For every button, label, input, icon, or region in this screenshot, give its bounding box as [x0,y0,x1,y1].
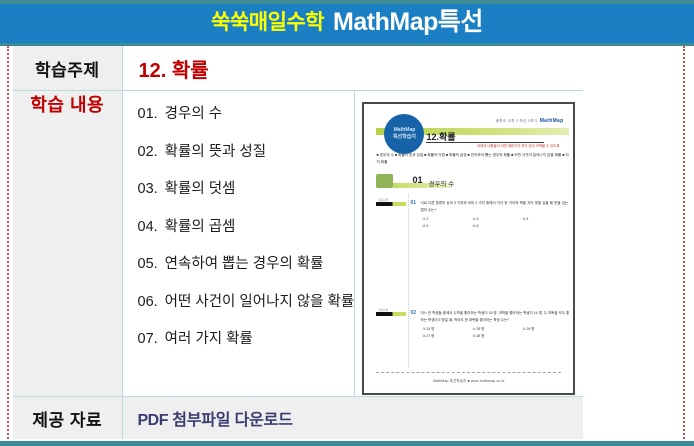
choice: ⑤ 6 [472,223,522,230]
section-icon [376,174,393,188]
corner-brand-text: MathMap [540,118,564,124]
content-label: 학습 내용 [30,95,104,115]
list-item-label: 어떤 사건이 일어나지 않을 확률 [165,294,355,310]
list-item-label: 확률의 곱셈 [165,219,236,235]
question-1-text: 서로 다른 종류의 상의 3 가지와 하의 2 가지 중에서 각각 한 가지씩 … [420,200,569,213]
choice: ④ 27 명 [422,333,472,340]
choice: ⑤ 28 명 [472,333,522,340]
question-1-marker-label: 대표문제 [378,198,388,202]
list-item: 07.여러 가지 확률 [138,332,355,347]
list-item-number: 04. [138,219,158,235]
list-item-number: 06. [138,294,158,310]
table-row-file: 제공 자료 PDF 첨부파일 다운로드 [13,397,583,440]
question-2-choices: ① 24 명 ② 25 명 ③ 26 명 ④ 27 명 ⑤ 28 명 [422,326,569,340]
content-list-cell: 01.경우의 수 02.확률의 뜻과 성질 03.확률의 덧셈 04.확률의 곱… [122,91,355,397]
question-2-marker: 유사문제 [376,312,406,316]
right-dotted-rule [683,46,687,446]
list-item-number: 05. [138,256,158,272]
list-item-label: 연속하여 뽑는 경우의 확률 [165,256,324,272]
worksheet-bullets: ■ 경우의 수 ■ 확률의 뜻과 성질 ■ 확률의 덧셈 ■ 확률의 곱셈 ■ … [376,152,569,166]
list-item: 01.경우의 수 [138,107,355,122]
file-label: 제공 자료 [32,411,102,430]
question-1-choices: ① 2 ② 3 ③ 4 ④ 5 ⑤ 6 [422,216,569,230]
page-title: 12. 확률 [123,54,583,83]
lesson-info-table: 학습주제 12. 확률 학습 내용 01.경우의 수 [13,46,583,439]
worksheet-corner-meta: 중학교 수학 2 학년 1학기 MathMap [496,118,564,124]
logo-line-2: 특선학습지 [393,134,416,142]
list-item: 03.확률의 덧셈 [138,182,355,197]
table-row-content: 학습 내용 01.경우의 수 02.확률의 뜻과 성질 03.확 [13,91,583,397]
topic-label-cell: 학습주제 [13,46,122,91]
choice: ③ 4 [522,216,569,223]
pdf-tag: PDF [138,412,169,429]
worksheet-preview-cell: MathMap 특선학습지 12.확률 중학교 수학 2 학년 1학기 Math… [355,91,583,397]
lesson-list: 01.경우의 수 02.확률의 뜻과 성질 03.확률의 덧셈 04.확률의 곱… [123,91,355,396]
worksheet-title-underline [426,142,544,143]
list-item: 02.확률의 뜻과 성질 [138,145,355,160]
list-item-number: 01. [138,106,158,122]
worksheet-margin-line [408,194,409,367]
download-link[interactable]: PDF 첨부파일 다운로드 [123,406,583,430]
worksheet-footer-text: MathMap 특선학습지 ■ www.mathmap.co.kr [368,378,569,383]
question-1-marker: 대표문제 [376,202,406,206]
worksheet-footer-rule [376,372,561,373]
list-item-label: 경우의 수 [165,106,222,122]
question-2-number: 02 [410,310,416,316]
table-row-topic: 학습주제 12. 확률 [13,46,583,91]
file-value-cell: PDF 첨부파일 다운로드 [122,397,583,440]
choice: ④ 5 [422,223,472,230]
content-label-cell: 학습 내용 [13,91,122,397]
worksheet-thumbnail[interactable]: MathMap 특선학습지 12.확률 중학교 수학 2 학년 1학기 Math… [362,102,575,395]
list-item: 06.어떤 사건이 일어나지 않을 확률 [138,295,355,310]
section-number: 01 [412,175,422,185]
list-item: 05.연속하여 뽑는 경우의 확률 [138,257,355,272]
choice: ① 2 [422,216,472,223]
list-item-number: 03. [138,181,158,197]
logo-line-1: MathMap [394,127,416,135]
banner-highlight-title: 쑥쑥매일수학 [211,12,324,35]
choice: ② 25 명 [472,326,522,333]
banner-main-title: MathMap특선 [333,10,483,37]
list-item: 04.확률의 곱셈 [138,220,355,235]
list-item-number: 07. [138,331,158,347]
topic-label: 학습주제 [35,61,100,80]
corner-meta-text: 중학교 수학 2 학년 1학기 [496,119,537,123]
choice: ① 24 명 [422,326,472,333]
lesson-summary-page: 쑥쑥매일수학 MathMap특선 학습주제 12. 확률 학습 [0,0,694,446]
list-item-label: 확률의 덧셈 [165,181,236,197]
worksheet-red-note: 아래의 내용들이 어떤 때문이지 보다 정리 꾸며볼 수 있도록 [449,144,559,149]
section-name: 경우의 수 [428,178,454,188]
choice: ② 3 [472,216,522,223]
download-link-label: 첨부파일 다운로드 [168,412,293,429]
topic-value-cell: 12. 확률 [122,46,583,91]
choice: ③ 26 명 [522,326,569,333]
question-1-number: 01 [410,200,416,206]
question-2-text: 어느 반 학생들 중에서 수학을 좋아하는 학생이 18 명, 과학을 좋아하는… [420,310,569,323]
worksheet-page: MathMap 특선학습지 12.확률 중학교 수학 2 학년 1학기 Math… [368,108,569,389]
mathmap-logo-icon: MathMap 특선학습지 [384,114,424,154]
file-label-cell: 제공 자료 [13,397,122,440]
list-item-label: 여러 가지 확률 [165,331,253,347]
question-2-marker-label: 유사문제 [378,308,388,312]
page-banner: 쑥쑥매일수학 MathMap특선 [0,0,694,46]
list-item-label: 확률의 뜻과 성질 [165,144,266,160]
list-item-number: 02. [138,144,158,160]
worksheet-section-header: 01 경우의 수 [376,174,569,188]
bottom-accent-bar [0,441,694,446]
left-dotted-rule [7,46,11,446]
